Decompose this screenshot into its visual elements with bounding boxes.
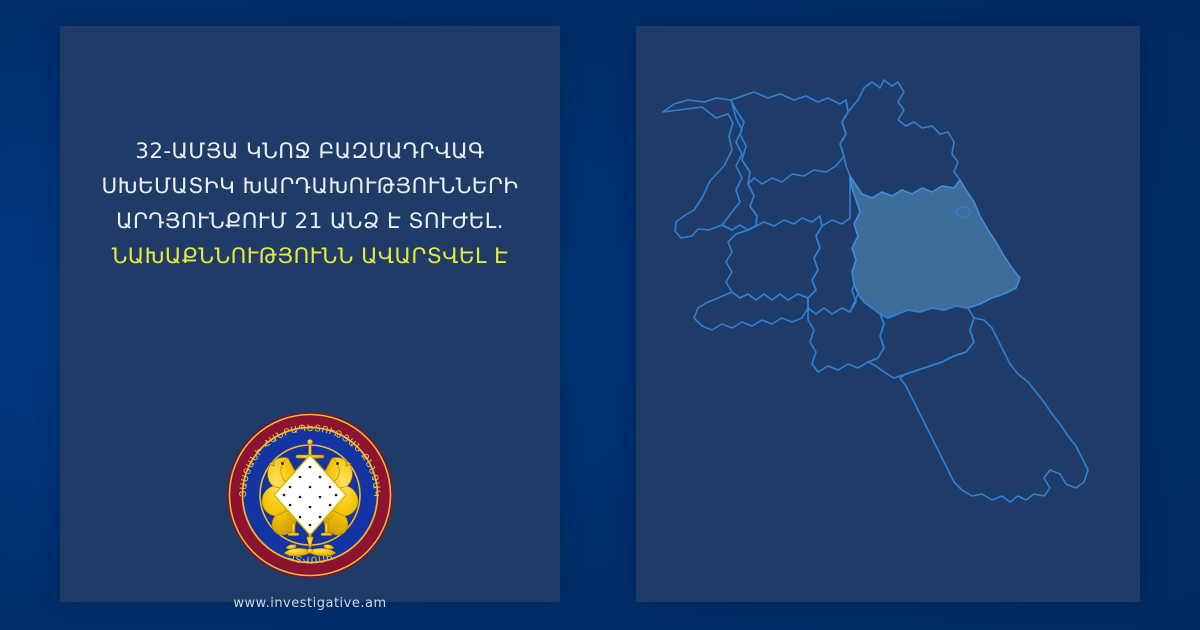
map-panel xyxy=(636,26,1140,602)
region-gegharkunik[interactable] xyxy=(850,176,1020,318)
region-vayots-dzor[interactable] xyxy=(868,306,974,378)
poster-canvas: 32-ԱՄՅԱ ԿՆՈՋ ԲԱԶՄԱԴՐՎԱԳ ՍԽԵՄԱՏԻԿ ԽԱՐԴԱԽՈ… xyxy=(0,0,1200,630)
site-url[interactable]: www.investigative.am xyxy=(60,596,560,611)
headline-block: 32-ԱՄՅԱ ԿՆՈՋ ԲԱԶՄԱԴՐՎԱԳ ՍԽԵՄԱՏԻԿ ԽԱՐԴԱԽՈ… xyxy=(60,134,560,274)
emblem: ՀԱՅԱՍՏԱՆԻ ՀԱՆՐԱՊԵՏՈՒԹՅԱՆ ՔՆՆՉԱԿԱՆ ԿՈՄԻՏԵ xyxy=(226,411,394,579)
headline-line-2: ՍԽԵՄԱՏԻԿ ԽԱՐԴԱԽՈՒԹՅՈՒՆՆԵՐԻ xyxy=(78,169,542,204)
text-panel: 32-ԱՄՅԱ ԿՆՈՋ ԲԱԶՄԱԴՐՎԱԳ ՍԽԵՄԱՏԻԿ ԽԱՐԴԱԽՈ… xyxy=(60,26,560,602)
region-aragatsotn[interactable] xyxy=(726,216,822,300)
armenia-map[interactable] xyxy=(636,26,1140,602)
headline-line-3: ԱՐԴՅՈՒՆՔՈՒՄ 21 ԱՆՁ Է ՏՈՒԺԵԼ. xyxy=(78,204,542,239)
region-lori[interactable] xyxy=(722,92,848,230)
region-syunik[interactable] xyxy=(900,318,1088,502)
headline-line-1: 32-ԱՄՅԱ ԿՆՈՋ ԲԱԶՄԱԴՐՎԱԳ xyxy=(78,134,542,169)
headline-accent-line: ՆԱԽԱՔՆՆՈՒԹՅՈՒՆՆ ԱՎԱՐՏՎԵԼ Է xyxy=(78,239,542,274)
region-tavush[interactable] xyxy=(840,80,960,198)
region-armavir[interactable] xyxy=(694,292,808,330)
region-shirak[interactable] xyxy=(663,98,757,238)
